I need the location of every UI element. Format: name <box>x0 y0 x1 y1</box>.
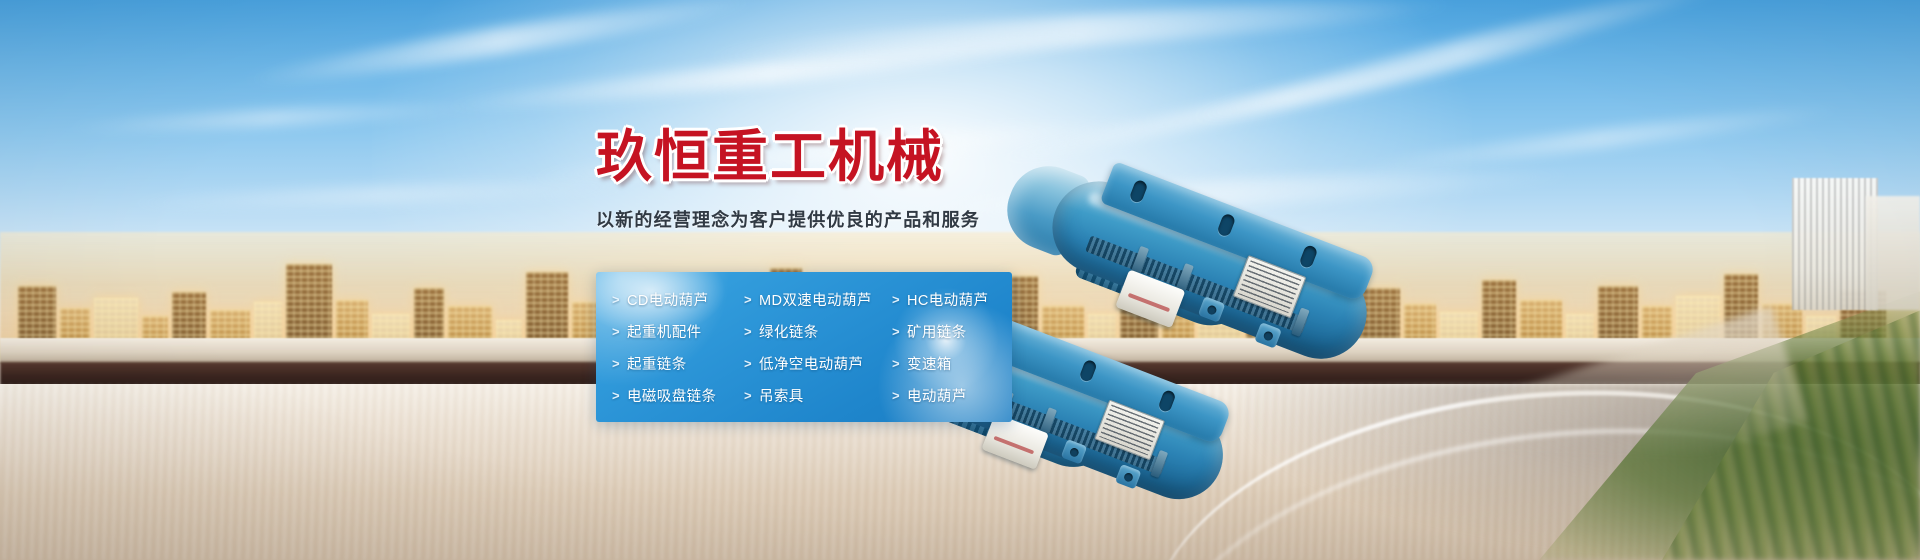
banner-headline: 玖恒重工机械 <box>596 128 1056 188</box>
product-link[interactable]: >电动葫芦 <box>892 385 1012 406</box>
banner-subheadline: 以新的经营理念为客户提供优良的产品和服务 <box>596 206 1056 232</box>
product-link-label: 起重链条 <box>627 353 687 374</box>
product-link-label: 吊索具 <box>759 385 804 406</box>
chevron-right-icon: > <box>744 324 752 339</box>
chevron-right-icon: > <box>892 388 900 403</box>
product-link[interactable]: >起重机配件 <box>612 321 744 342</box>
white-tower-building <box>1866 196 1920 310</box>
chevron-right-icon: > <box>612 292 620 307</box>
product-link[interactable]: >HC电动葫芦 <box>892 289 1012 310</box>
chevron-right-icon: > <box>892 292 900 307</box>
product-link[interactable]: >矿用链条 <box>892 321 1012 342</box>
product-link[interactable]: >变速箱 <box>892 353 1012 374</box>
chevron-right-icon: > <box>892 324 900 339</box>
product-link-label: 低净空电动葫芦 <box>759 353 863 374</box>
product-link-label: 变速箱 <box>907 353 952 374</box>
chevron-right-icon: > <box>892 356 900 371</box>
product-link-label: 起重机配件 <box>627 321 702 342</box>
banner-text-block: 玖恒重工机械 以新的经营理念为客户提供优良的产品和服务 <box>596 128 1056 232</box>
product-link-label: HC电动葫芦 <box>907 289 988 310</box>
product-link-label: 绿化链条 <box>759 321 819 342</box>
chevron-right-icon: > <box>744 356 752 371</box>
product-link[interactable]: >MD双速电动葫芦 <box>744 289 892 310</box>
product-link-label: CD电动葫芦 <box>627 289 708 310</box>
product-link[interactable]: >CD电动葫芦 <box>612 289 744 310</box>
product-link[interactable]: >电磁吸盘链条 <box>612 385 744 406</box>
chevron-right-icon: > <box>744 388 752 403</box>
chevron-right-icon: > <box>612 388 620 403</box>
chevron-right-icon: > <box>744 292 752 307</box>
chevron-right-icon: > <box>612 356 620 371</box>
product-link-label: 电动葫芦 <box>907 385 967 406</box>
product-link[interactable]: >低净空电动葫芦 <box>744 353 892 374</box>
product-link[interactable]: >吊索具 <box>744 385 892 406</box>
product-link[interactable]: >起重链条 <box>612 353 744 374</box>
product-link-label: 矿用链条 <box>907 321 967 342</box>
product-links-grid: >CD电动葫芦>MD双速电动葫芦>HC电动葫芦>起重机配件>绿化链条>矿用链条>… <box>596 273 1012 421</box>
product-link[interactable]: >绿化链条 <box>744 321 892 342</box>
product-link-label: MD双速电动葫芦 <box>759 289 872 310</box>
chevron-right-icon: > <box>612 324 620 339</box>
hero-banner: 玖恒重工机械 以新的经营理念为客户提供优良的产品和服务 >CD电动葫芦>MD双速… <box>0 0 1920 560</box>
product-link-label: 电磁吸盘链条 <box>627 385 716 406</box>
product-links-panel: >CD电动葫芦>MD双速电动葫芦>HC电动葫芦>起重机配件>绿化链条>矿用链条>… <box>596 272 1012 422</box>
